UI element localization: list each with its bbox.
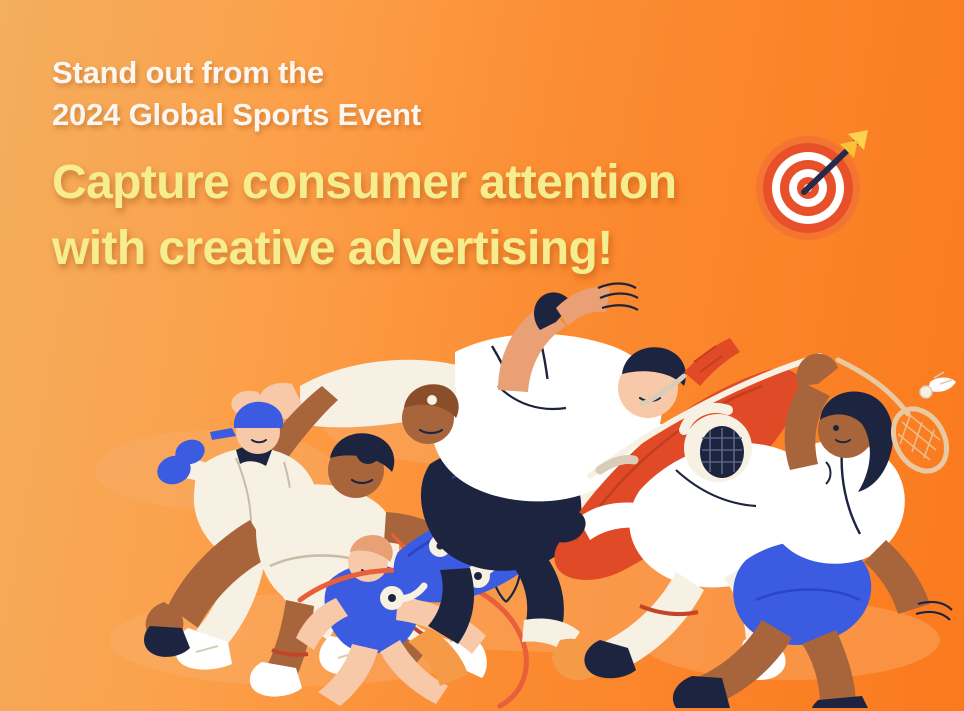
promotional-banner: Stand out from the 2024 Global Sports Ev… (0, 0, 964, 711)
headline-line-1: Capture consumer attention (52, 150, 676, 216)
target-bullseye-icon (752, 128, 870, 246)
headline-copy-block: Stand out from the 2024 Global Sports Ev… (52, 52, 676, 283)
kicker-line-2: 2024 Global Sports Event (52, 94, 676, 136)
kicker-line-1: Stand out from the (52, 52, 676, 94)
headline-line-2: with creative advertising! (52, 216, 676, 282)
headline-wrap: Capture consumer attention with creative… (52, 150, 676, 282)
